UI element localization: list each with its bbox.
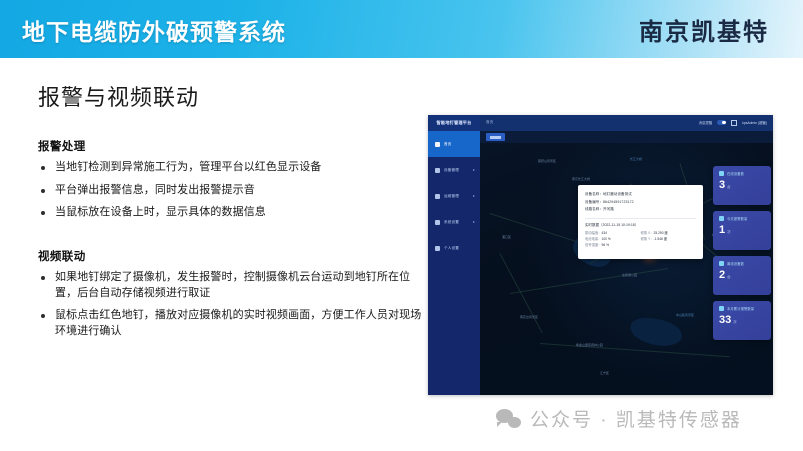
stat-label: 在线设备数	[727, 171, 744, 176]
metric-cell: 倾角 Y：-1.546 度	[641, 236, 697, 242]
map-label: 长江大桥	[630, 157, 642, 161]
ops-icon	[435, 194, 440, 199]
stat-value: 3台	[719, 180, 771, 193]
watermark: 公众号 · 凯基特传感器	[496, 405, 742, 432]
metric-value: 434	[601, 231, 607, 235]
app-sidebar: 首页 设备管理 运维管理 系统设置 个人设置	[428, 131, 480, 395]
map-label: 幕府山风景区	[538, 159, 556, 163]
metric-cell: 信号强度：96 %	[585, 242, 641, 248]
header-banner: 地下电缆防外破预警系统 南京凯基特	[0, 0, 803, 58]
map-road	[540, 343, 730, 357]
list-item: 平台弹出报警信息，同时发出报警提示音	[38, 183, 428, 199]
device-name-row: 设备名称：地钉震动设备测试	[585, 191, 696, 199]
sidebar-item-settings[interactable]: 系统设置	[428, 209, 480, 235]
map-road	[510, 268, 668, 294]
stat-card-online-devices[interactable]: 在线设备数 3台	[713, 166, 771, 205]
gear-icon	[435, 220, 440, 225]
list-item: 当鼠标放在设备上时，显示具体的数据信息	[38, 205, 428, 221]
slide-heading: 报警与视频联动	[38, 80, 199, 112]
stat-value: 2台	[719, 270, 771, 283]
chevron-right-icon	[473, 195, 475, 197]
bullet-list: 如果地钉绑定了摄像机，发生报警时，控制摄像机云台运动到地钉所在位置，后台自动存储…	[38, 270, 428, 339]
stat-value: 33次	[719, 315, 771, 328]
device-id-row: 设备编号：864294591723172	[585, 199, 696, 207]
metric-value: 100 %	[601, 237, 610, 241]
map-label: 雨花台风景区	[520, 315, 538, 319]
user-name[interactable]: kpsAdmin (超管)	[742, 120, 767, 125]
app-screenshot-panel: 智能地钉管理平台 首页 消息提醒 kpsAdmin (超管) 首页 设备管理 运	[428, 115, 773, 395]
notification-label: 消息提醒	[699, 120, 713, 125]
notification-toggle[interactable]	[717, 120, 726, 125]
watermark-text: 公众号 · 凯基特传感器	[530, 405, 742, 432]
list-item: 如果地钉绑定了摄像机，发生报警时，控制摄像机云台运动到地钉所在位置，后台自动存储…	[38, 270, 428, 301]
metric-label: 信号强度：	[585, 243, 601, 247]
offline-device-icon	[719, 261, 724, 266]
stat-label: 本月累计报警数量	[727, 306, 754, 311]
alarm-today-icon	[719, 216, 724, 221]
metric-label: 倾角 X：	[641, 231, 654, 235]
sidebar-item-label: 运维管理	[444, 194, 459, 199]
tab-map-view[interactable]	[486, 133, 505, 141]
sidebar-item-label: 系统设置	[444, 220, 459, 225]
section-alarm-handling: 报警处理 当地钉检测到异常施工行为，管理平台以红色显示设备 平台弹出报警信息，同…	[38, 138, 428, 228]
metric-value: 25.290 度	[654, 231, 668, 235]
sidebar-item-label: 个人设置	[444, 246, 459, 251]
brand-name: 南京凯基特	[639, 12, 769, 47]
alarm-month-icon	[719, 306, 724, 311]
realtime-data-title: 实时数据（2022-11-15 10:19:18）	[585, 222, 696, 228]
chevron-right-icon	[473, 221, 475, 223]
stat-header: 本月累计报警数量	[719, 306, 771, 311]
sidebar-item-label: 首页	[444, 142, 452, 147]
stat-card-month-alarms[interactable]: 本月累计报警数量 33次	[713, 301, 771, 340]
section-video-linkage: 视频联动 如果地钉绑定了摄像机，发生报警时，控制摄像机云台运动到地钉所在位置，后…	[38, 248, 428, 346]
sidebar-item-label: 设备管理	[444, 168, 459, 173]
stat-header: 今天报警数量	[719, 216, 771, 221]
water-body	[628, 316, 683, 349]
section-heading: 视频联动	[38, 248, 428, 264]
map-road	[500, 253, 543, 333]
map-canvas[interactable]: 长江大桥 南京长江大桥 幕府山风景区 浦口区 玄武湖公园 紫金山国家森林公园 中…	[480, 143, 773, 395]
stat-label: 今天报警数量	[727, 216, 747, 221]
map-label: 中山陵风景区	[676, 313, 694, 317]
stat-card-offline-devices[interactable]: 离线设备数 2台	[713, 256, 771, 295]
user-icon	[435, 246, 440, 251]
stat-header: 在线设备数	[719, 171, 771, 176]
tab-label-glyph	[490, 136, 501, 139]
metric-label: 倾角 Y：	[641, 237, 654, 241]
slide-root: 地下电缆防外破预警系统 南京凯基特 报警与视频联动 报警处理 当地钉检测到异常施…	[0, 0, 803, 451]
stat-value: 1次	[719, 225, 771, 238]
stat-unit: 台	[727, 275, 730, 279]
sidebar-item-device[interactable]: 设备管理	[428, 157, 480, 183]
online-device-icon	[719, 171, 724, 176]
wechat-icon	[496, 409, 521, 428]
sidebar-item-home[interactable]: 首页	[428, 131, 480, 157]
stat-card-list: 在线设备数 3台 今天报警数量 1次 离线设备数 2台	[713, 166, 773, 346]
sidebar-item-ops[interactable]: 运维管理	[428, 183, 480, 209]
list-item: 鼠标点击红色地钉，播放对应摄像机的实时视频画面，方便工作人员对现场环境进行确认	[38, 308, 428, 339]
metric-grid: 振动幅值：434 倾角 X：25.290 度 电池电量：100 % 倾角 Y：-…	[585, 230, 696, 249]
map-label: 南京长江大桥	[572, 177, 590, 181]
metric-value: 96 %	[601, 243, 609, 247]
map-label: 浦口区	[502, 235, 511, 239]
map-label: 江宁区	[600, 371, 609, 375]
stat-unit: 台	[727, 185, 730, 189]
app-logo: 智能地钉管理平台	[428, 115, 480, 131]
topbar-actions: 消息提醒 kpsAdmin (超管)	[699, 120, 767, 126]
fullscreen-icon[interactable]	[731, 120, 737, 126]
stat-unit: 次	[727, 230, 730, 234]
home-icon	[435, 142, 440, 147]
metric-value: -1.546 度	[654, 237, 668, 241]
section-heading: 报警处理	[38, 138, 428, 154]
breadcrumb: 首页	[486, 120, 494, 125]
device-info-card: 设备名称：地钉震动设备测试 设备编号：864294591723172 线路名称：…	[578, 185, 703, 259]
stat-card-today-alarms[interactable]: 今天报警数量 1次	[713, 211, 771, 250]
metric-label: 电池电量：	[585, 237, 601, 241]
stat-header: 离线设备数	[719, 261, 771, 266]
map-label: 玄武湖公园	[622, 273, 637, 277]
line-name-row: 线路名称：开河路	[585, 206, 696, 214]
app-topbar: 智能地钉管理平台 首页 消息提醒 kpsAdmin (超管)	[428, 115, 773, 131]
metric-label: 振动幅值：	[585, 231, 601, 235]
divider	[585, 218, 696, 219]
bullet-list: 当地钉检测到异常施工行为，管理平台以红色显示设备 平台弹出报警信息，同时发出报警…	[38, 160, 428, 221]
page-title: 地下电缆防外破预警系统	[22, 13, 286, 47]
stat-unit: 次	[733, 320, 736, 324]
list-item: 当地钉检测到异常施工行为，管理平台以红色显示设备	[38, 160, 428, 176]
device-icon	[435, 168, 440, 173]
map-label: 紫金山国家森林公园	[576, 343, 603, 347]
stat-label: 离线设备数	[727, 261, 744, 266]
chevron-right-icon	[473, 169, 475, 171]
sidebar-item-profile[interactable]: 个人设置	[428, 235, 480, 261]
